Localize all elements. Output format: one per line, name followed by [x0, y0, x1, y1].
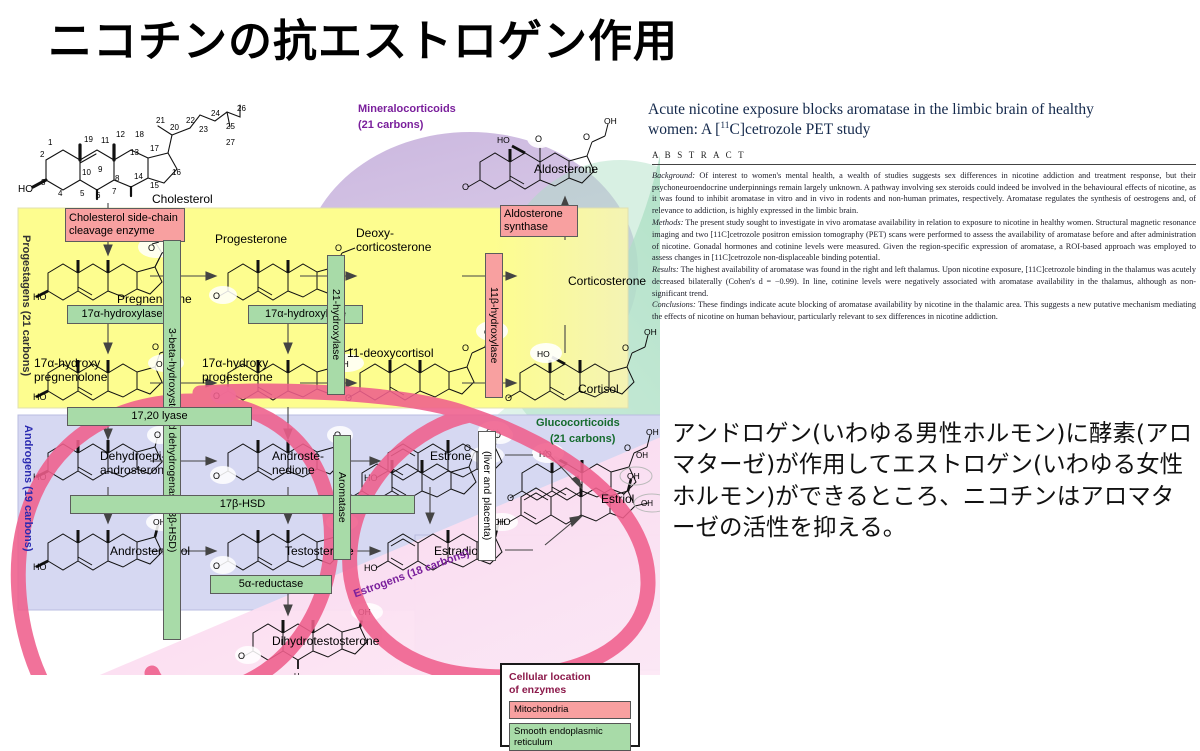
svg-text:OH: OH: [604, 116, 617, 126]
legend-item-mitochondria: Mitochondria: [509, 701, 631, 718]
label-17a-hydroxy-pregnenolone-line2: pregnenolone: [34, 371, 107, 384]
paper-title-line2-pre: women: A [: [648, 121, 720, 138]
svg-text:14: 14: [134, 172, 143, 181]
svg-text:1: 1: [48, 138, 53, 147]
paper-title-isotope: 11: [720, 121, 729, 131]
svg-text:HO: HO: [33, 292, 47, 302]
group-label-glucocorticoids-line2: (21 carbons): [550, 433, 615, 445]
svg-text:26: 26: [237, 104, 246, 113]
abstract-conclusions-text: These findings indicate acute blocking o…: [652, 300, 1196, 321]
enzyme-11b-hydroxylase[interactable]: 11β-hydroxylase: [485, 253, 503, 398]
svg-text:HO: HO: [364, 563, 378, 573]
legend-title-line2: of enzymes: [509, 684, 631, 697]
label-dhea-line1: Dehydroepi-: [100, 450, 165, 463]
label-dihydrotestosterone: Dihydrotestosterone: [272, 635, 379, 648]
svg-text:OH: OH: [627, 471, 640, 481]
enzyme-17-20-lyase[interactable]: 17,20 lyase: [67, 407, 252, 426]
abstract-methods: Methods: The present study sought to inv…: [652, 217, 1196, 264]
svg-text:O: O: [535, 134, 542, 144]
label-17a-hydroxy-pregnenolone-line1: 17α-hydroxy: [34, 357, 100, 370]
japanese-caption: アンドロゲン(いわゆる男性ホルモン)に酵素(アロマターゼ)が作用してエストロゲン…: [672, 418, 1196, 544]
label-17a-hydroxy-progesterone-line2: progesterone: [202, 371, 273, 384]
legend-title-line1: Cellular location: [509, 671, 631, 684]
paper-title: Acute nicotine exposure blocks aromatase…: [648, 100, 1196, 140]
svg-text:H: H: [294, 671, 299, 675]
svg-text:6: 6: [96, 191, 101, 200]
abstract-results-label: Results:: [652, 265, 679, 274]
svg-text:O: O: [238, 651, 245, 661]
svg-text:O: O: [152, 342, 159, 352]
label-androstenedione-line1: Androste-: [272, 450, 324, 463]
group-label-mineralocorticoids-line2: (21 carbons): [358, 119, 423, 131]
abstract-results-text: The highest availability of aromatase wa…: [652, 265, 1196, 298]
svg-text:25: 25: [226, 122, 235, 131]
svg-text:O: O: [622, 343, 629, 353]
enzyme-3-beta-hsd[interactable]: 3-beta-hydroxysteroid dehydrogenase (3β-…: [163, 240, 181, 640]
svg-text:5: 5: [80, 189, 85, 198]
legend-smooth-er-line1: Smooth endoplasmic: [514, 726, 603, 737]
abstract-methods-label: Methods:: [652, 218, 683, 227]
abstract-body: Background: Of interest to women's menta…: [652, 170, 1196, 323]
enzyme-aldosterone-synthase[interactable]: Aldosterone synthase: [500, 205, 578, 237]
svg-text:O: O: [335, 243, 342, 253]
svg-text:O: O: [583, 132, 590, 142]
abstract-conclusions: Conclusions: These findings indicate acu…: [652, 299, 1196, 323]
svg-text:27: 27: [226, 138, 235, 147]
svg-text:O: O: [213, 471, 220, 481]
svg-text:HO: HO: [33, 562, 47, 572]
paper-title-line2-post: C]cetrozole PET study: [730, 121, 871, 138]
enzyme-5a-reductase[interactable]: 5α-reductase: [210, 575, 332, 594]
abstract-background: Background: Of interest to women's menta…: [652, 170, 1196, 217]
label-estriol: Estriol: [601, 493, 634, 506]
svg-text:7: 7: [112, 187, 117, 196]
abstract-methods-text: The present study sought to investigate …: [652, 218, 1196, 262]
legend-item-smooth-endoplasmic-reticulum: Smooth endoplasmic reticulum: [509, 723, 631, 751]
svg-text:O: O: [507, 493, 514, 503]
svg-text:O: O: [154, 430, 161, 440]
svg-text:O: O: [462, 343, 469, 353]
label-corticosterone: Corticosterone: [568, 275, 646, 288]
svg-text:11: 11: [101, 136, 110, 145]
label-androstenedione-line2: nedione: [272, 464, 315, 477]
svg-text:13: 13: [130, 148, 139, 157]
svg-text:OH: OH: [641, 499, 653, 508]
abstract-conclusions-label: Conclusions:: [652, 300, 696, 309]
abstract-results: Results: The highest availability of aro…: [652, 264, 1196, 299]
svg-text:O: O: [213, 561, 220, 571]
label-deoxycorticosterone-line1: Deoxy-: [356, 227, 394, 240]
group-label-glucocorticoids-line1: Glucocorticoids: [536, 417, 620, 429]
svg-text:2: 2: [40, 150, 45, 159]
svg-text:HO: HO: [537, 349, 550, 359]
label-aldosterone: Aldosterone: [534, 163, 598, 176]
enzyme-cholesterol-side-chain-cleavage[interactable]: Cholesterol side-chain cleavage enzyme: [65, 208, 185, 242]
svg-text:23: 23: [199, 125, 208, 134]
label-deoxycorticosterone-line2: corticosterone: [356, 241, 431, 254]
enzyme-17a-hydroxylase-left[interactable]: 17α-hydroxylase: [67, 305, 177, 324]
svg-text:O: O: [624, 443, 631, 453]
svg-text:3: 3: [41, 178, 46, 187]
label-17a-hydroxy-progesterone-line1: 17α-hydroxy: [202, 357, 268, 370]
label-cholesterol: Cholesterol: [152, 193, 213, 206]
svg-text:O: O: [505, 393, 512, 403]
legend-cellular-location: Cellular location of enzymes Mitochondri…: [500, 663, 640, 747]
svg-text:18: 18: [135, 130, 144, 139]
enzyme-17a-hydroxylase-right[interactable]: 17α-hydroxylase: [248, 305, 363, 324]
svg-text:24: 24: [211, 109, 220, 118]
svg-text:OH: OH: [646, 427, 659, 437]
svg-text:OH: OH: [636, 451, 648, 460]
svg-text:10: 10: [82, 168, 91, 177]
svg-text:HO: HO: [497, 135, 510, 145]
abstract-background-text: Of interest to women's mental health, a …: [652, 171, 1196, 215]
abstract-divider: [652, 164, 1196, 165]
svg-text:12: 12: [116, 130, 125, 139]
enzyme-aldosterone-synthase-line1: Aldosterone: [504, 208, 563, 221]
svg-text:17: 17: [150, 144, 159, 153]
label-dhea-line2: androsterone: [100, 464, 171, 477]
steroidogenesis-diagram: HO 2119 345 678 91011 121314 151617 1821…: [0, 95, 660, 675]
label-estrone: Estrone: [430, 450, 471, 463]
svg-text:HO: HO: [33, 392, 47, 402]
svg-text:8: 8: [115, 174, 120, 183]
enzyme-liver-and-placenta[interactable]: (liver and placenta): [478, 431, 496, 561]
group-label-mineralocorticoids-line1: Mineralocorticoids: [358, 103, 456, 115]
label-progesterone: Progesterone: [215, 233, 287, 246]
svg-text:16: 16: [172, 168, 181, 177]
label-cortisol: Cortisol: [578, 383, 619, 396]
slide-root: ニコチンの抗エストロゲン作用: [0, 0, 1200, 675]
enzyme-17b-hsd[interactable]: 17β-HSD: [70, 495, 415, 514]
svg-text:15: 15: [150, 181, 159, 190]
svg-text:HO: HO: [497, 517, 511, 527]
group-label-androgens: Androgens (19 carbons): [22, 425, 34, 595]
enzyme-aldosterone-synthase-line2: synthase: [504, 221, 548, 234]
svg-text:4: 4: [58, 189, 63, 198]
abstract-heading: A B S T R A C T: [652, 150, 1196, 160]
paper-title-line1: Acute nicotine exposure blocks aromatase…: [648, 101, 1094, 118]
svg-text:O: O: [462, 182, 469, 192]
label-11-deoxycortisol: 11-deoxycortisol: [347, 347, 433, 360]
svg-text:9: 9: [98, 165, 103, 174]
enzyme-scc-line1: Cholesterol side-chain: [69, 212, 178, 225]
legend-smooth-er-line2: reticulum: [514, 737, 553, 748]
paper-abstract-panel: Acute nicotine exposure blocks aromatase…: [648, 100, 1196, 400]
svg-text:22: 22: [186, 116, 195, 125]
page-title: ニコチンの抗エストロゲン作用: [48, 18, 678, 66]
enzyme-aromatase[interactable]: Aromatase: [333, 435, 351, 560]
svg-text:O: O: [213, 291, 220, 301]
enzyme-scc-line2: cleavage enzyme: [69, 225, 155, 238]
svg-text:21: 21: [156, 116, 165, 125]
svg-text:20: 20: [170, 123, 179, 132]
svg-text:19: 19: [84, 135, 93, 144]
enzyme-21-hydroxylase[interactable]: 21-hydroxylase: [327, 255, 345, 395]
svg-text:O: O: [148, 243, 155, 253]
group-label-progestagens: Progestagens (21 carbons): [20, 235, 32, 403]
abstract-background-label: Background:: [652, 171, 695, 180]
svg-text:HO: HO: [18, 184, 33, 195]
